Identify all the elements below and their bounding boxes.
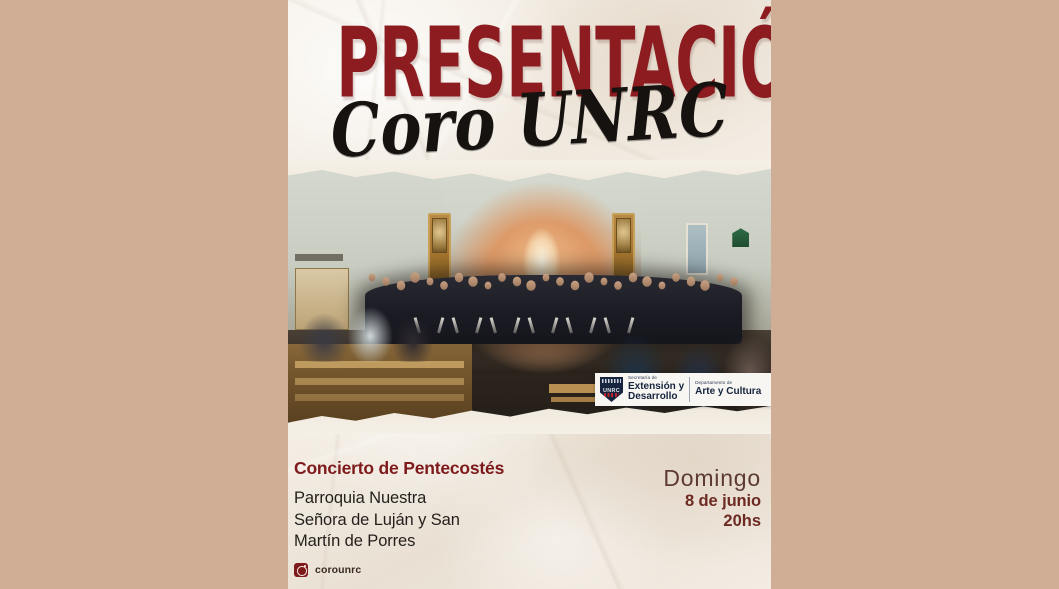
departamento-name: Arte y Cultura bbox=[695, 387, 761, 398]
poster-info-block: Concierto de Pentecostés Parroquia Nuest… bbox=[288, 438, 771, 589]
secretaria-line-2: Desarrollo bbox=[628, 392, 684, 403]
letterbox-right bbox=[771, 0, 1059, 589]
event-time: 20hs bbox=[663, 511, 761, 531]
audience-left bbox=[298, 294, 462, 362]
event-date: 8 de junio bbox=[663, 491, 761, 511]
event-poster: PRESENTACIÓN Coro UNRC UNRC Secretaría d… bbox=[288, 0, 771, 589]
shield-bottom-ornament bbox=[604, 393, 619, 397]
instagram-icon[interactable] bbox=[294, 563, 308, 577]
event-weekday: Domingo bbox=[663, 466, 761, 491]
church-window bbox=[686, 223, 708, 275]
event-datetime: Domingo 8 de junio 20hs bbox=[663, 466, 761, 531]
departamento-block: Departamento de Arte y Cultura bbox=[690, 381, 766, 397]
social-handle[interactable]: corounrc bbox=[294, 563, 361, 577]
poster-title-block: PRESENTACIÓN Coro UNRC bbox=[288, 0, 771, 178]
institutional-logo-banner: UNRC Secretaría de Extensión y Desarroll… bbox=[595, 373, 771, 406]
concert-title: Concierto de Pentecostés bbox=[294, 458, 504, 479]
venue-line-2: Señora de Luján y San bbox=[294, 510, 460, 532]
social-handle-label[interactable]: corounrc bbox=[315, 564, 361, 576]
venue-line-1: Parroquia Nuestra bbox=[294, 488, 460, 510]
wall-inscription-plate bbox=[295, 254, 343, 261]
shield-top-ornament bbox=[602, 379, 621, 383]
venue-line-3: Martín de Porres bbox=[294, 531, 460, 553]
unrc-shield-icon: UNRC bbox=[600, 377, 623, 402]
venue-name: Parroquia Nuestra Señora de Luján y San … bbox=[294, 488, 460, 553]
letterbox-left bbox=[0, 0, 288, 589]
secretaria-block: Secretaría de Extensión y Desarrollo bbox=[623, 376, 689, 403]
